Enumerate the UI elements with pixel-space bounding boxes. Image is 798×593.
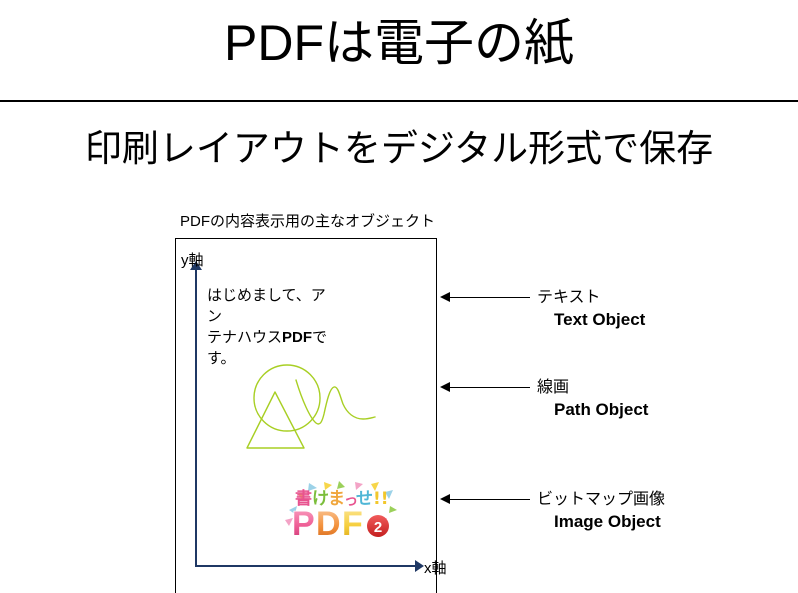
x-axis-line xyxy=(195,565,417,567)
svg-text:!!: !! xyxy=(373,489,389,509)
pdf-image-object: 書 け ま っ せ !! P D F 2 xyxy=(283,480,401,540)
logo-letter-p: P xyxy=(292,505,315,540)
callout-label-ja: ビットマップ画像 xyxy=(537,490,665,510)
path-object-drawing-icon xyxy=(230,360,395,470)
y-axis-line xyxy=(195,268,197,567)
y-axis-label: y軸 xyxy=(181,252,204,269)
path-circle-shape xyxy=(254,365,320,431)
pdf-text-line-2-pre: テナハウス xyxy=(207,329,282,346)
x-axis-label: x軸 xyxy=(424,560,447,577)
logo-badge-number: 2 xyxy=(374,519,382,536)
path-triangle-shape xyxy=(247,392,304,448)
callout-leader-line xyxy=(448,297,530,298)
path-wave-shape xyxy=(296,380,375,424)
callout-label-en: Image Object xyxy=(554,511,661,533)
callout-label-ja: テキスト xyxy=(537,288,601,308)
x-axis-arrowhead-icon xyxy=(415,560,424,572)
callout-leader-line xyxy=(448,499,530,500)
page-title: PDFは電子の紙 xyxy=(0,6,798,80)
callout-label-en: Path Object xyxy=(554,399,648,421)
logo-letter-d: D xyxy=(316,505,341,540)
logo-letter-f: F xyxy=(342,505,363,540)
pdf-text-object: はじめまして、アン テナハウスPDFで す。 xyxy=(207,285,335,369)
callout-label-ja: 線画 xyxy=(537,378,569,398)
callout-leader-line xyxy=(448,387,530,388)
diagram-caption: PDFの内容表示用の主なオブジェクト xyxy=(180,212,435,232)
kakemasse-pdf-logo-icon: 書 け ま っ せ !! P D F 2 xyxy=(283,480,401,540)
pdf-text-line-2: テナハウスPDFで xyxy=(207,327,335,348)
pdf-text-line-1: はじめまして、アン xyxy=(207,285,335,327)
pdf-path-object xyxy=(230,360,395,470)
pdf-text-line-2-bold: PDF xyxy=(282,329,312,346)
title-divider xyxy=(0,100,798,102)
callout-label-en: Text Object xyxy=(554,309,645,331)
callout-image-object: ビットマップ画像 Image Object xyxy=(440,490,740,552)
pdf-text-line-2-post: で xyxy=(312,329,327,346)
callout-path-object: 線画 Path Object xyxy=(440,378,740,440)
callout-text-object: テキスト Text Object xyxy=(440,288,740,350)
page-subtitle: 印刷レイアウトをデジタル形式で保存 xyxy=(0,124,798,174)
